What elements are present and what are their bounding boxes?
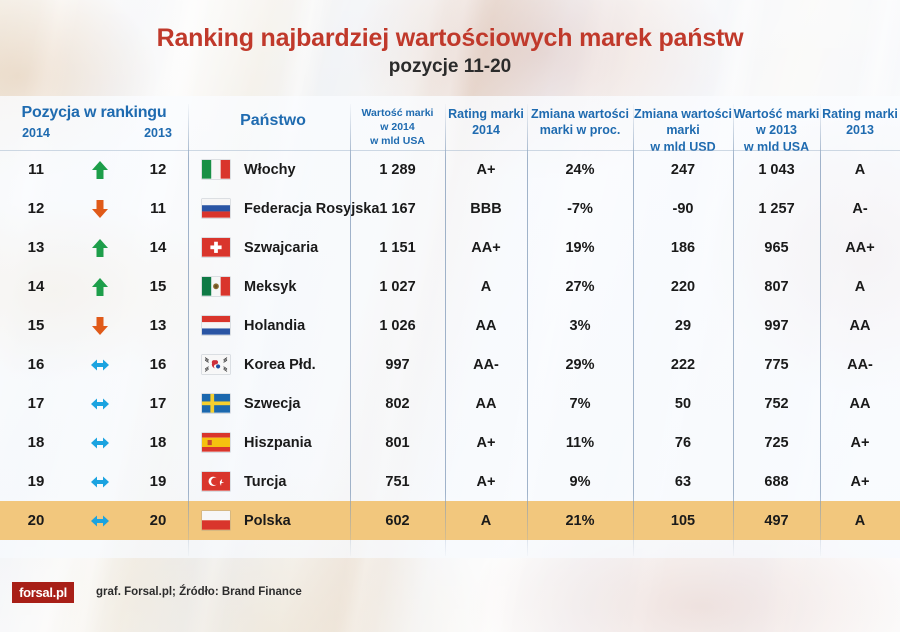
header-change-pct: Zmiana wartościmarki w proc.: [527, 106, 633, 139]
cell-position-2014: 20: [0, 501, 72, 540]
position-2013-value: 13: [150, 317, 167, 334]
country-name: Hiszpania: [244, 435, 312, 451]
flag-italy-icon: [196, 150, 236, 189]
change-pct: 21%: [565, 513, 594, 529]
cell-change-pct: 24%: [527, 150, 633, 189]
value-2013: 965: [764, 240, 788, 256]
table-row: 1513Holandia1 026AA3%29997AA: [0, 306, 900, 345]
rating-2014: A+: [477, 162, 496, 178]
table-header-row: Pozycja w rankingu 2014 2013 Państwo War…: [0, 100, 900, 150]
cell-country: Turcja: [244, 462, 358, 501]
cell-position-2013: 19: [128, 462, 188, 501]
value-2014: 751: [385, 474, 409, 490]
cell-rating-2013: A: [820, 267, 900, 306]
position-2014-value: 12: [28, 200, 45, 217]
change-usd: 247: [671, 162, 695, 178]
country-name: Szwajcaria: [244, 240, 318, 256]
trend-arrow-flat-icon: [72, 384, 128, 423]
cell-value-2014: 1 026: [350, 306, 445, 345]
table-row: 1818Hiszpania801A+11%76725A+: [0, 423, 900, 462]
cell-value-2014: 997: [350, 345, 445, 384]
ranking-table: Pozycja w rankingu 2014 2013 Państwo War…: [0, 100, 900, 540]
header-underline: [0, 150, 900, 151]
cell-change-usd: 63: [633, 462, 733, 501]
cell-rating-2014: BBB: [445, 189, 527, 228]
trend-arrow-up-icon: [72, 150, 128, 189]
table-row: 1415Meksyk1 027A27%220807A: [0, 267, 900, 306]
flag-netherlands-icon: [196, 306, 236, 345]
cell-position-2013: 18: [128, 423, 188, 462]
value-2013: 1 257: [758, 201, 794, 217]
column-divider: [633, 104, 634, 556]
value-2013: 1 043: [758, 162, 794, 178]
cell-rating-2013: A+: [820, 462, 900, 501]
cell-change-usd: 76: [633, 423, 733, 462]
value-2013: 688: [764, 474, 788, 490]
change-usd: 186: [671, 240, 695, 256]
value-2014: 1 027: [379, 279, 415, 295]
cell-rating-2014: AA-: [445, 345, 527, 384]
cell-rating-2013: AA: [820, 384, 900, 423]
rating-2013: AA-: [847, 357, 873, 373]
position-2014-value: 16: [28, 356, 45, 373]
trend-arrow-flat-icon: [72, 501, 128, 540]
header-year-2014: 2014: [0, 126, 72, 140]
cell-value-2013: 807: [733, 267, 820, 306]
cell-value-2014: 1 167: [350, 189, 445, 228]
position-2014-value: 18: [28, 434, 45, 451]
table-body: 1112Włochy1 289A+24%2471 043A1211Federac…: [0, 150, 900, 540]
position-2014-value: 17: [28, 395, 45, 412]
header-value-2014: Wartość markiw 2014w mld USA: [350, 106, 445, 149]
value-2014: 997: [385, 357, 409, 373]
value-2014: 1 151: [379, 240, 415, 256]
cell-rating-2014: A: [445, 501, 527, 540]
header-value-2013: Wartość markiw 2013w mld USA: [733, 106, 820, 155]
cell-position-2013: 11: [128, 189, 188, 228]
table-row: 1616Korea Płd.997AA-29%222775AA-: [0, 345, 900, 384]
rating-2013: A+: [851, 474, 870, 490]
cell-rating-2014: A+: [445, 423, 527, 462]
header-position-title: Pozycja w rankingu: [0, 104, 188, 122]
position-2014-value: 20: [28, 512, 45, 529]
cell-position-2013: 15: [128, 267, 188, 306]
position-2013-value: 11: [150, 200, 166, 217]
cell-change-pct: 3%: [527, 306, 633, 345]
cell-value-2013: 1 257: [733, 189, 820, 228]
rating-2013: A: [855, 162, 865, 178]
rating-2013: A-: [852, 201, 867, 217]
flag-spain-icon: [196, 423, 236, 462]
trend-arrow-up-icon: [72, 228, 128, 267]
header-position-group: Pozycja w rankingu 2014 2013: [0, 104, 188, 140]
cell-country: Szwajcaria: [244, 228, 358, 267]
rating-2014: AA: [476, 396, 497, 412]
cell-change-pct: 9%: [527, 462, 633, 501]
column-divider: [733, 104, 734, 556]
cell-position-2014: 19: [0, 462, 72, 501]
cell-position-2014: 12: [0, 189, 72, 228]
change-usd: 222: [671, 357, 695, 373]
footer: forsal.pl graf. Forsal.pl; Źródło: Brand…: [0, 578, 900, 618]
country-name: Turcja: [244, 474, 286, 490]
change-pct: 11%: [566, 435, 594, 451]
cell-value-2014: 602: [350, 501, 445, 540]
cell-rating-2013: A: [820, 501, 900, 540]
cell-position-2013: 14: [128, 228, 188, 267]
cell-change-usd: 186: [633, 228, 733, 267]
value-2014: 1 026: [379, 318, 415, 334]
flag-sweden-icon: [196, 384, 236, 423]
flag-russia-icon: [196, 189, 236, 228]
value-2013: 807: [764, 279, 788, 295]
value-2014: 1 167: [379, 201, 415, 217]
flag-switzerland-icon: [196, 228, 236, 267]
rating-2014: A: [481, 513, 491, 529]
change-pct: 24%: [565, 162, 594, 178]
cell-change-pct: 19%: [527, 228, 633, 267]
country-name: Włochy: [244, 162, 296, 178]
forsal-logo[interactable]: forsal.pl: [12, 582, 74, 603]
position-2014-value: 19: [28, 473, 45, 490]
country-name: Meksyk: [244, 279, 296, 295]
change-pct: 9%: [570, 474, 591, 490]
trend-arrow-down-icon: [72, 306, 128, 345]
country-name: Polska: [244, 513, 291, 529]
trend-arrow-flat-icon: [72, 345, 128, 384]
cell-change-usd: 105: [633, 501, 733, 540]
cell-change-usd: 222: [633, 345, 733, 384]
header-rating-2014: Rating marki2014: [445, 106, 527, 139]
position-2013-value: 20: [150, 512, 167, 529]
flag-poland-icon: [196, 501, 236, 540]
cell-position-2014: 18: [0, 423, 72, 462]
cell-change-usd: 29: [633, 306, 733, 345]
rating-2014: AA+: [471, 240, 500, 256]
cell-country: Hiszpania: [244, 423, 358, 462]
table-row: 1112Włochy1 289A+24%2471 043A: [0, 150, 900, 189]
column-divider: [445, 104, 446, 556]
cell-change-usd: 220: [633, 267, 733, 306]
cell-position-2013: 13: [128, 306, 188, 345]
cell-country: Polska: [244, 501, 358, 540]
cell-rating-2013: AA-: [820, 345, 900, 384]
position-2013-value: 12: [150, 161, 167, 178]
value-2013: 997: [764, 318, 788, 334]
rating-2013: A: [855, 279, 865, 295]
header-rating-2013: Rating marki2013: [820, 106, 900, 139]
change-pct: 29%: [565, 357, 594, 373]
value-2013: 775: [764, 357, 788, 373]
rating-2013: AA: [850, 396, 871, 412]
cell-country: Meksyk: [244, 267, 358, 306]
cell-change-pct: 7%: [527, 384, 633, 423]
cell-position-2013: 17: [128, 384, 188, 423]
value-2013: 752: [764, 396, 788, 412]
source-credit: graf. Forsal.pl; Źródło: Brand Finance: [96, 586, 302, 598]
change-usd: 50: [675, 396, 691, 412]
position-2014-value: 15: [28, 317, 45, 334]
cell-position-2014: 14: [0, 267, 72, 306]
column-divider: [188, 104, 189, 556]
table-row: 1211Federacja Rosyjska1 167BBB-7%-901 25…: [0, 189, 900, 228]
cell-country: Włochy: [244, 150, 358, 189]
cell-position-2013: 12: [128, 150, 188, 189]
cell-value-2013: 752: [733, 384, 820, 423]
title-block: Ranking najbardziej wartościowych marek …: [0, 0, 900, 78]
cell-value-2014: 802: [350, 384, 445, 423]
cell-rating-2014: AA: [445, 384, 527, 423]
page-subtitle: pozycje 11-20: [0, 56, 900, 78]
change-usd: 76: [675, 435, 691, 451]
position-2013-value: 14: [150, 239, 167, 256]
cell-position-2014: 17: [0, 384, 72, 423]
position-2014-value: 11: [28, 161, 44, 178]
change-usd: 105: [671, 513, 695, 529]
position-2013-value: 19: [150, 473, 167, 490]
cell-value-2014: 1 289: [350, 150, 445, 189]
value-2013: 725: [764, 435, 788, 451]
trend-arrow-flat-icon: [72, 462, 128, 501]
cell-position-2014: 16: [0, 345, 72, 384]
cell-change-pct: 21%: [527, 501, 633, 540]
rating-2014: BBB: [470, 201, 501, 217]
column-divider: [350, 104, 351, 556]
cell-value-2013: 497: [733, 501, 820, 540]
table-row: 1314Szwajcaria1 151AA+19%186965AA+: [0, 228, 900, 267]
cell-rating-2013: A-: [820, 189, 900, 228]
cell-country: Korea Płd.: [244, 345, 358, 384]
cell-value-2013: 997: [733, 306, 820, 345]
change-pct: 7%: [570, 396, 591, 412]
page-title: Ranking najbardziej wartościowych marek …: [0, 24, 900, 53]
cell-rating-2014: AA+: [445, 228, 527, 267]
trend-arrow-down-icon: [72, 189, 128, 228]
table-row: 1919Turcja751A+9%63688A+: [0, 462, 900, 501]
cell-change-usd: 247: [633, 150, 733, 189]
cell-value-2014: 801: [350, 423, 445, 462]
trend-arrow-flat-icon: [72, 423, 128, 462]
cell-rating-2013: A: [820, 150, 900, 189]
rating-2014: A+: [477, 435, 496, 451]
rating-2014: AA-: [473, 357, 499, 373]
position-2014-value: 14: [28, 278, 45, 295]
cell-change-usd: -90: [633, 189, 733, 228]
rating-2013: A+: [851, 435, 870, 451]
change-usd: 63: [675, 474, 691, 490]
cell-value-2013: 775: [733, 345, 820, 384]
position-2014-value: 13: [28, 239, 45, 256]
header-country: Państwo: [196, 112, 350, 130]
cell-position-2014: 13: [0, 228, 72, 267]
cell-position-2014: 11: [0, 150, 72, 189]
change-pct: 19%: [565, 240, 594, 256]
country-name: Holandia: [244, 318, 305, 334]
change-pct: 27%: [565, 279, 594, 295]
change-usd: 29: [675, 318, 691, 334]
table-row: 1717Szwecja802AA7%50752AA: [0, 384, 900, 423]
rating-2014: AA: [476, 318, 497, 334]
change-usd: 220: [671, 279, 695, 295]
cell-value-2013: 688: [733, 462, 820, 501]
value-2014: 802: [385, 396, 409, 412]
position-2013-value: 16: [150, 356, 167, 373]
column-divider: [527, 104, 528, 556]
change-usd: -90: [673, 201, 694, 217]
value-2014: 1 289: [379, 162, 415, 178]
change-pct: 3%: [570, 318, 591, 334]
cell-rating-2013: AA: [820, 306, 900, 345]
cell-value-2013: 725: [733, 423, 820, 462]
flag-southkorea-icon: [196, 345, 236, 384]
position-2013-value: 18: [150, 434, 167, 451]
cell-rating-2014: A: [445, 267, 527, 306]
column-divider: [820, 104, 821, 556]
position-2013-value: 15: [150, 278, 167, 295]
cell-country: Federacja Rosyjska: [244, 189, 358, 228]
cell-value-2014: 1 027: [350, 267, 445, 306]
table-row: 2020Polska602A21%105497A: [0, 501, 900, 540]
header-year-spacer: [72, 126, 128, 140]
cell-value-2014: 1 151: [350, 228, 445, 267]
value-2014: 801: [385, 435, 409, 451]
cell-position-2013: 16: [128, 345, 188, 384]
rating-2013: AA: [850, 318, 871, 334]
rating-2013: A: [855, 513, 865, 529]
cell-value-2014: 751: [350, 462, 445, 501]
cell-change-usd: 50: [633, 384, 733, 423]
header-change-usd: Zmiana wartościmarkiw mld USD: [633, 106, 733, 155]
value-2013: 497: [764, 513, 788, 529]
cell-rating-2014: AA: [445, 306, 527, 345]
cell-rating-2014: A+: [445, 150, 527, 189]
country-name: Szwecja: [244, 396, 300, 412]
country-name: Korea Płd.: [244, 357, 316, 373]
value-2014: 602: [385, 513, 409, 529]
header-year-2013: 2013: [128, 126, 188, 140]
change-pct: -7%: [567, 201, 593, 217]
cell-country: Holandia: [244, 306, 358, 345]
cell-value-2013: 965: [733, 228, 820, 267]
rating-2013: AA+: [845, 240, 874, 256]
cell-country: Szwecja: [244, 384, 358, 423]
cell-change-pct: -7%: [527, 189, 633, 228]
cell-rating-2013: A+: [820, 423, 900, 462]
cell-position-2014: 15: [0, 306, 72, 345]
cell-change-pct: 27%: [527, 267, 633, 306]
cell-rating-2013: AA+: [820, 228, 900, 267]
position-2013-value: 17: [150, 395, 167, 412]
cell-rating-2014: A+: [445, 462, 527, 501]
flag-mexico-icon: [196, 267, 236, 306]
trend-arrow-up-icon: [72, 267, 128, 306]
cell-position-2013: 20: [128, 501, 188, 540]
cell-change-pct: 29%: [527, 345, 633, 384]
flag-turkey-icon: [196, 462, 236, 501]
rating-2014: A+: [477, 474, 496, 490]
cell-value-2013: 1 043: [733, 150, 820, 189]
rating-2014: A: [481, 279, 491, 295]
cell-change-pct: 11%: [527, 423, 633, 462]
